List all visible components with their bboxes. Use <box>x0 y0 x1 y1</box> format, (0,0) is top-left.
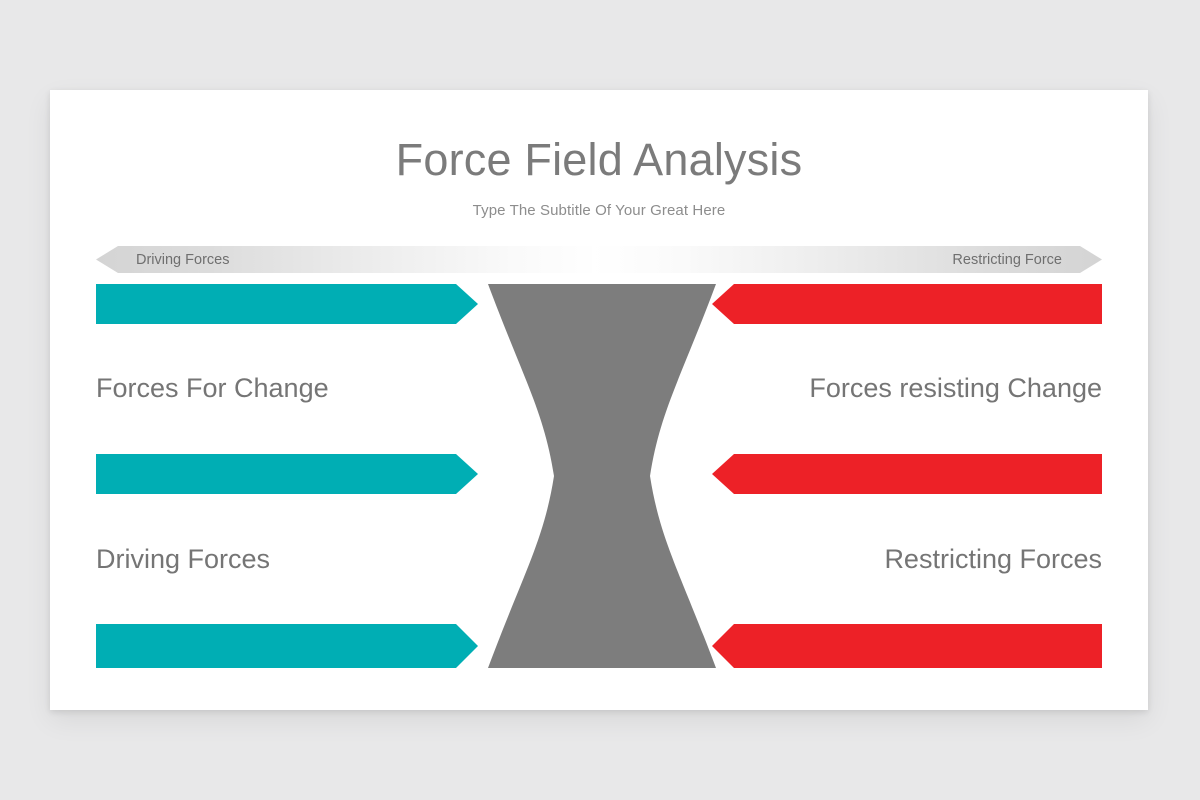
driving-arrow-1[interactable] <box>96 284 478 324</box>
driving-forces-header-label: Driving Forces <box>136 252 229 268</box>
right-label-restricting-forces: Restricting Forces <box>884 546 1102 573</box>
right-label-forces-resisting-change: Forces resisting Change <box>809 375 1102 402</box>
hourglass-shape <box>484 284 720 668</box>
restricting-force-header-label: Restricting Force <box>952 252 1062 268</box>
title-block: Force Field Analysis Type The Subtitle O… <box>50 135 1148 219</box>
restricting-force-header-ribbon[interactable]: Restricting Force <box>592 246 1102 273</box>
restricting-arrow-3[interactable] <box>712 624 1102 668</box>
restricting-arrow-1[interactable] <box>712 284 1102 324</box>
driving-forces-header-ribbon[interactable]: Driving Forces <box>96 246 606 273</box>
page-title: Force Field Analysis <box>50 135 1148 185</box>
restricting-arrow-2[interactable] <box>712 454 1102 494</box>
page-subtitle: Type The Subtitle Of Your Great Here <box>50 202 1148 219</box>
left-label-driving-forces: Driving Forces <box>96 546 270 573</box>
driving-arrow-2[interactable] <box>96 454 478 494</box>
driving-arrow-3[interactable] <box>96 624 478 668</box>
slide-canvas: Force Field Analysis Type The Subtitle O… <box>0 0 1200 800</box>
left-label-forces-for-change: Forces For Change <box>96 375 329 402</box>
